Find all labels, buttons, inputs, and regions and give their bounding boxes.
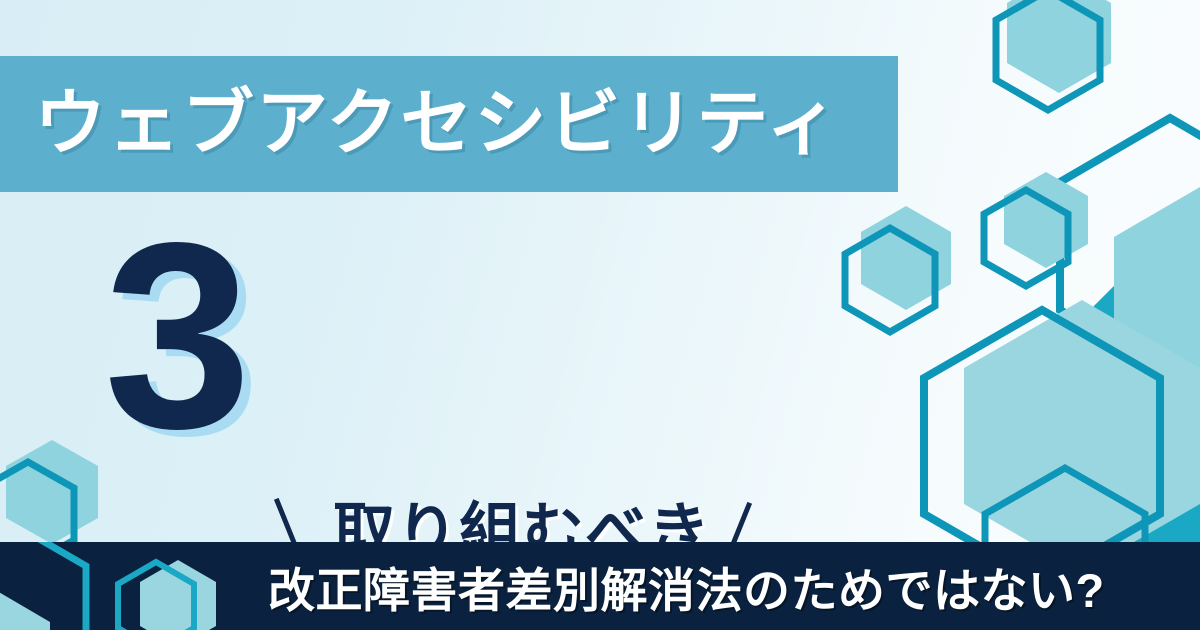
banner-canvas: ウェブアクセシビリティ 3 取り組むべき つの理由 改正障害者差別解消法のためで… (0, 0, 1200, 630)
hex-top-right-outline-icon (996, 0, 1100, 110)
right-teal-wedge (1062, 200, 1200, 546)
hex-top-right-fill-icon (1007, 0, 1111, 93)
right-teal-wedge-taper (1062, 200, 1200, 546)
hex-upper-right-fill-icon (1114, 180, 1200, 408)
headline-number: 3 (104, 204, 245, 469)
category-band: ウェブアクセシビリティ (0, 56, 898, 192)
hex-upper-right-outline-icon (1060, 118, 1200, 374)
hex-mid-right-fill-icon (1004, 172, 1088, 268)
hex-big-lower-fill-icon (964, 300, 1200, 572)
hex-bar-left-outline-icon (0, 542, 86, 630)
headline-block: 3 取り組むべき つの理由 (0, 228, 900, 498)
hex-bar-mid-fill-icon (140, 560, 216, 630)
hex-bar-left-fill-icon (0, 588, 50, 630)
bottom-bar-text: 改正障害者差別解消法のためではない? (268, 542, 1105, 630)
hex-mid-right-outline-icon (984, 190, 1068, 286)
category-band-label: ウェブアクセシビリティ (34, 88, 840, 160)
hex-bar-mid-outline-icon (118, 562, 194, 630)
bottom-bar: 改正障害者差別解消法のためではない? (0, 542, 1200, 630)
